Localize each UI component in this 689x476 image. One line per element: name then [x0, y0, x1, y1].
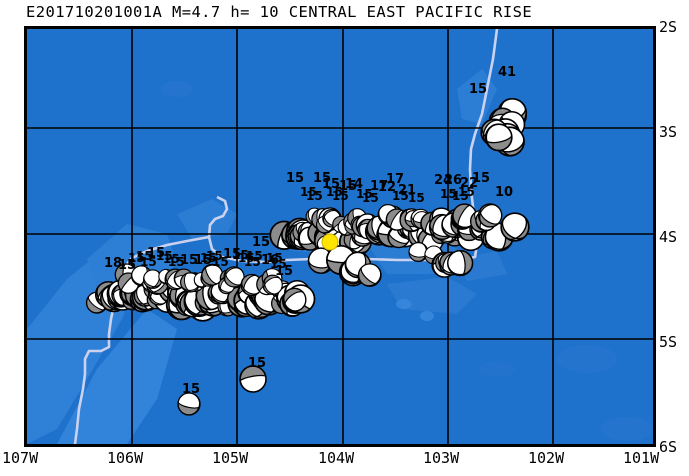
y-tick-3S: 3S	[659, 123, 677, 141]
beachball	[486, 124, 512, 150]
main-event-marker[interactable]	[322, 234, 338, 250]
x-tick-107W: 107W	[2, 449, 38, 467]
beachball-label: 15	[168, 256, 185, 268]
beachball	[283, 288, 306, 311]
beachball-label: 15	[362, 192, 379, 204]
beachball-label: 15	[306, 190, 323, 202]
x-tick-101W: 101W	[623, 449, 659, 467]
beachball-label: 15	[408, 192, 425, 204]
map-plot-area[interactable]: 4115151515151417121721242622151018151515…	[24, 26, 656, 447]
beachball-label: 15	[332, 190, 349, 202]
beachball-label: 10	[495, 186, 513, 199]
beachball	[359, 264, 381, 286]
x-tick-103W: 103W	[423, 449, 459, 467]
y-tick-5S: 5S	[659, 333, 677, 351]
figure-title: E201710201001A M=4.7 h= 10 CENTRAL EAST …	[26, 3, 532, 21]
beachball	[501, 213, 529, 241]
beachball-label: 15	[182, 383, 200, 396]
beachball-label: 15	[270, 258, 287, 270]
beachball-label: 15	[469, 83, 487, 96]
y-tick-6S: 6S	[659, 438, 677, 456]
beachball-label: 15	[212, 256, 229, 268]
map-canvas: 4115151515151417121721242622151018151515…	[27, 29, 653, 444]
beachball-label: 15	[458, 186, 475, 198]
map-graphics	[27, 29, 653, 444]
beachball-label: 15	[392, 190, 409, 202]
beachball	[479, 204, 502, 227]
beachball-label: 15	[246, 250, 263, 262]
beachball-label: 15	[286, 172, 304, 185]
x-tick-105W: 105W	[212, 449, 248, 467]
figure-root: E201710201001A M=4.7 h= 10 CENTRAL EAST …	[0, 0, 689, 476]
beachball-label: 41	[498, 66, 516, 79]
y-tick-4S: 4S	[659, 228, 677, 246]
beachball-label: 15	[248, 357, 266, 370]
beachball-label: 15	[252, 236, 270, 249]
beachball-label: 15	[472, 172, 490, 185]
x-tick-106W: 106W	[107, 449, 143, 467]
y-tick-2S: 2S	[659, 18, 677, 36]
x-tick-104W: 104W	[318, 449, 354, 467]
x-tick-102W: 102W	[528, 449, 564, 467]
beachball	[448, 251, 473, 276]
beachball-label: 15	[140, 256, 157, 268]
